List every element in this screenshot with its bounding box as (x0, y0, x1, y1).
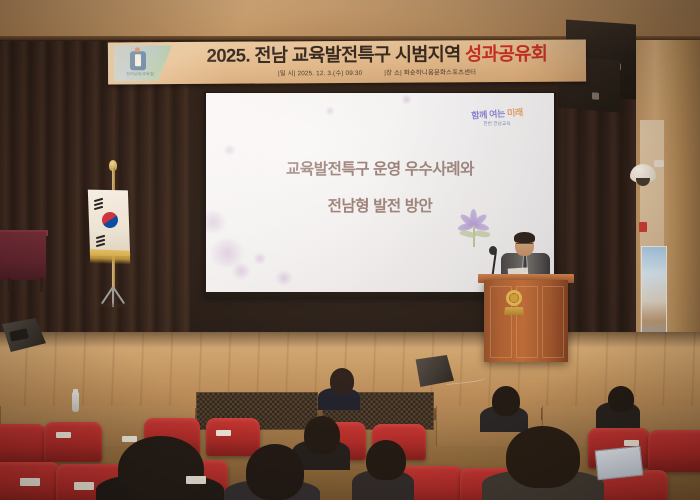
audience-head-front (118, 436, 204, 500)
seat (206, 418, 260, 456)
seat (44, 422, 102, 462)
flag-gold-fringe (90, 249, 131, 264)
logo-accent-dot-icon (135, 47, 140, 52)
seat-number-tag (20, 478, 40, 486)
banner-title-accent: 성과공유회 (465, 43, 547, 65)
banner-subtitle: |일 시| 2025. 12. 3.(수) 09:30|장 소| 화순하니움문화… (172, 67, 582, 79)
banner-title: 2025. 전남 교육발전특구 시범지역 성과공유회 (172, 43, 582, 68)
banner-title-main: 2025. 전남 교육발전특구 시범지역 (207, 43, 466, 66)
speaker-badge-lower (592, 92, 599, 100)
presenter-glasses-icon (516, 243, 533, 247)
banner-logo-text: 전라남도교육청 (118, 71, 162, 77)
seat-number-tag (186, 476, 206, 484)
banner-logo-panel: 전라남도교육청 (114, 45, 172, 81)
event-banner: 전라남도교육청 2025. 전남 교육발전특구 시범지역 성과공유회 |일 시|… (108, 40, 586, 85)
audience-head-front (246, 444, 304, 500)
seat (0, 424, 46, 464)
seat-number-tag (122, 436, 137, 442)
podium-emblem-icon (504, 290, 524, 316)
podium-panel (542, 286, 564, 358)
banner-place-label: |장 소| (384, 70, 402, 77)
audience-head-front (506, 426, 580, 488)
presenter-hair (514, 232, 535, 243)
seat-number-tag (216, 430, 231, 436)
side-table-with-red-cloth (0, 232, 46, 280)
audience-head (330, 368, 354, 394)
seat (648, 430, 700, 472)
audience-head (366, 440, 406, 480)
audience-head (304, 416, 340, 454)
water-bottle (72, 392, 79, 412)
audience-head (608, 386, 634, 412)
flag-stand-shadow (94, 304, 134, 307)
banner-date-value: 2025. 12. 3.(수) 09:30 (297, 70, 362, 77)
audience-laptop[interactable] (595, 446, 644, 481)
audience-head (492, 386, 520, 416)
bottle-cap (73, 389, 78, 393)
seat-number-tag (74, 482, 94, 490)
education-office-logo-icon (130, 51, 146, 70)
seat-number-tag (56, 432, 71, 438)
banner-place-value: 화순하니움문화스포츠센터 (404, 69, 476, 76)
stage-floor-shadow (0, 332, 700, 348)
banner-date-label: |일 시| (278, 70, 296, 77)
table-leg (8, 278, 11, 292)
table-leg (40, 278, 43, 292)
camera-mount-arm (654, 160, 664, 167)
auditorium-photo: 전라남도교육청 2025. 전남 교육발전특구 시범지역 성과공유회 |일 시|… (0, 0, 700, 500)
fire-alarm-icon (639, 222, 647, 232)
